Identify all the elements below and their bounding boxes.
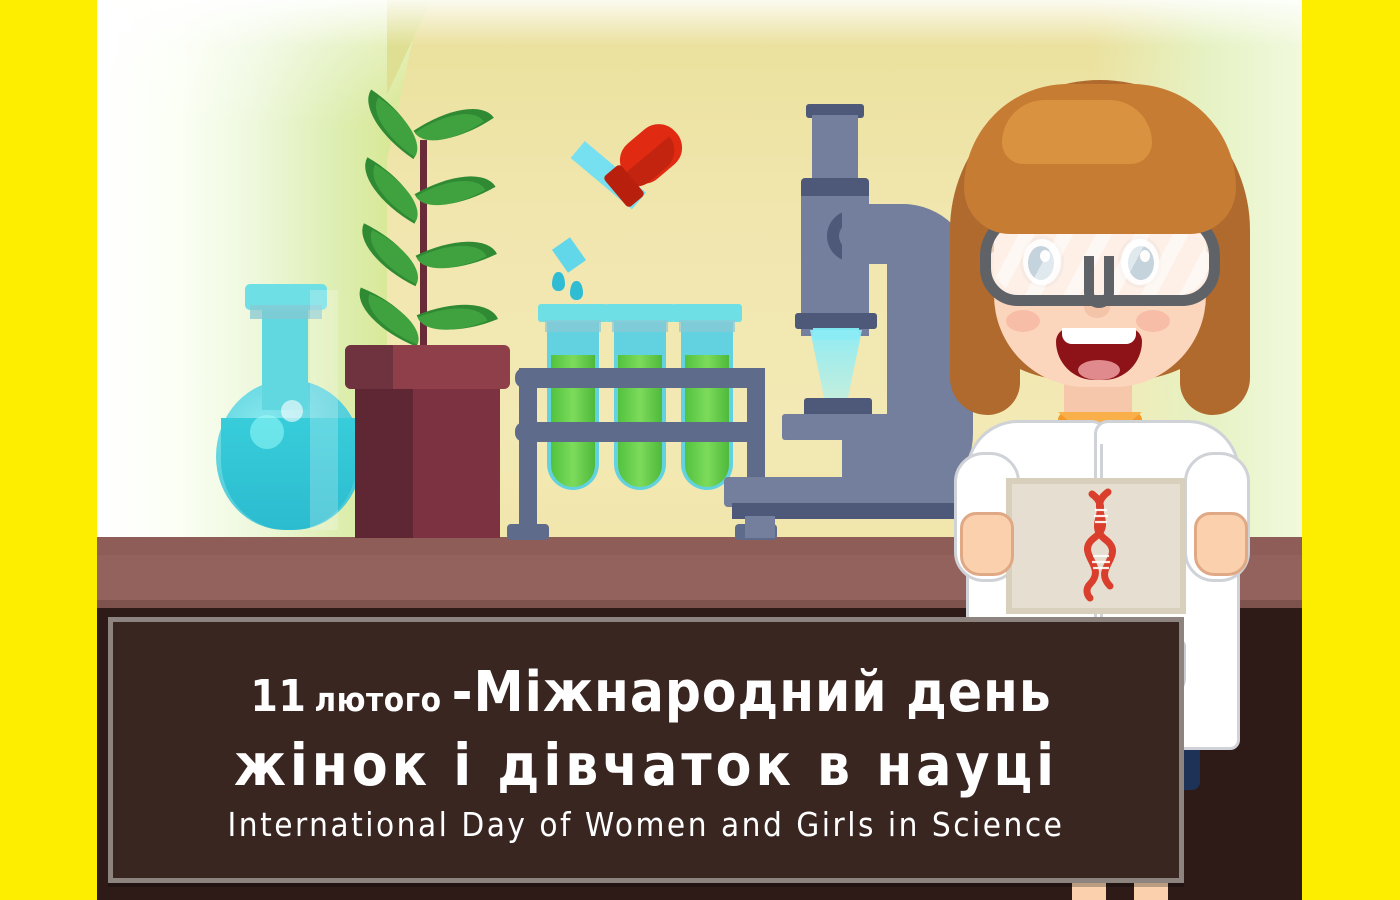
subtitle-english: International Day of Women and Girls in … <box>113 805 1179 844</box>
hair-highlight <box>1002 100 1152 164</box>
cheek-right <box>1136 310 1170 332</box>
cheek-left <box>1006 310 1040 332</box>
date-number: 11 <box>250 671 306 722</box>
scene-top-glow <box>97 0 1302 46</box>
dna-helix-icon <box>1078 488 1124 606</box>
teeth <box>1062 328 1136 344</box>
month-word: лютого <box>306 680 441 719</box>
hand-right <box>1194 512 1248 576</box>
hand-left <box>960 512 1014 576</box>
headline-line-1: 11лютого-Міжнародний день <box>113 660 1179 725</box>
poster-root: 11лютого-Міжнародний день жінок і дівчат… <box>0 0 1400 900</box>
headline-line-2: жінок і дівчаток в науці <box>113 731 1179 799</box>
goggles-bridge <box>1084 256 1114 308</box>
tongue <box>1078 360 1120 380</box>
headline-rest: -Міжнародний день <box>442 660 1052 725</box>
title-panel: 11лютого-Міжнародний день жінок і дівчат… <box>108 617 1184 883</box>
hair-fringe <box>978 156 1222 228</box>
